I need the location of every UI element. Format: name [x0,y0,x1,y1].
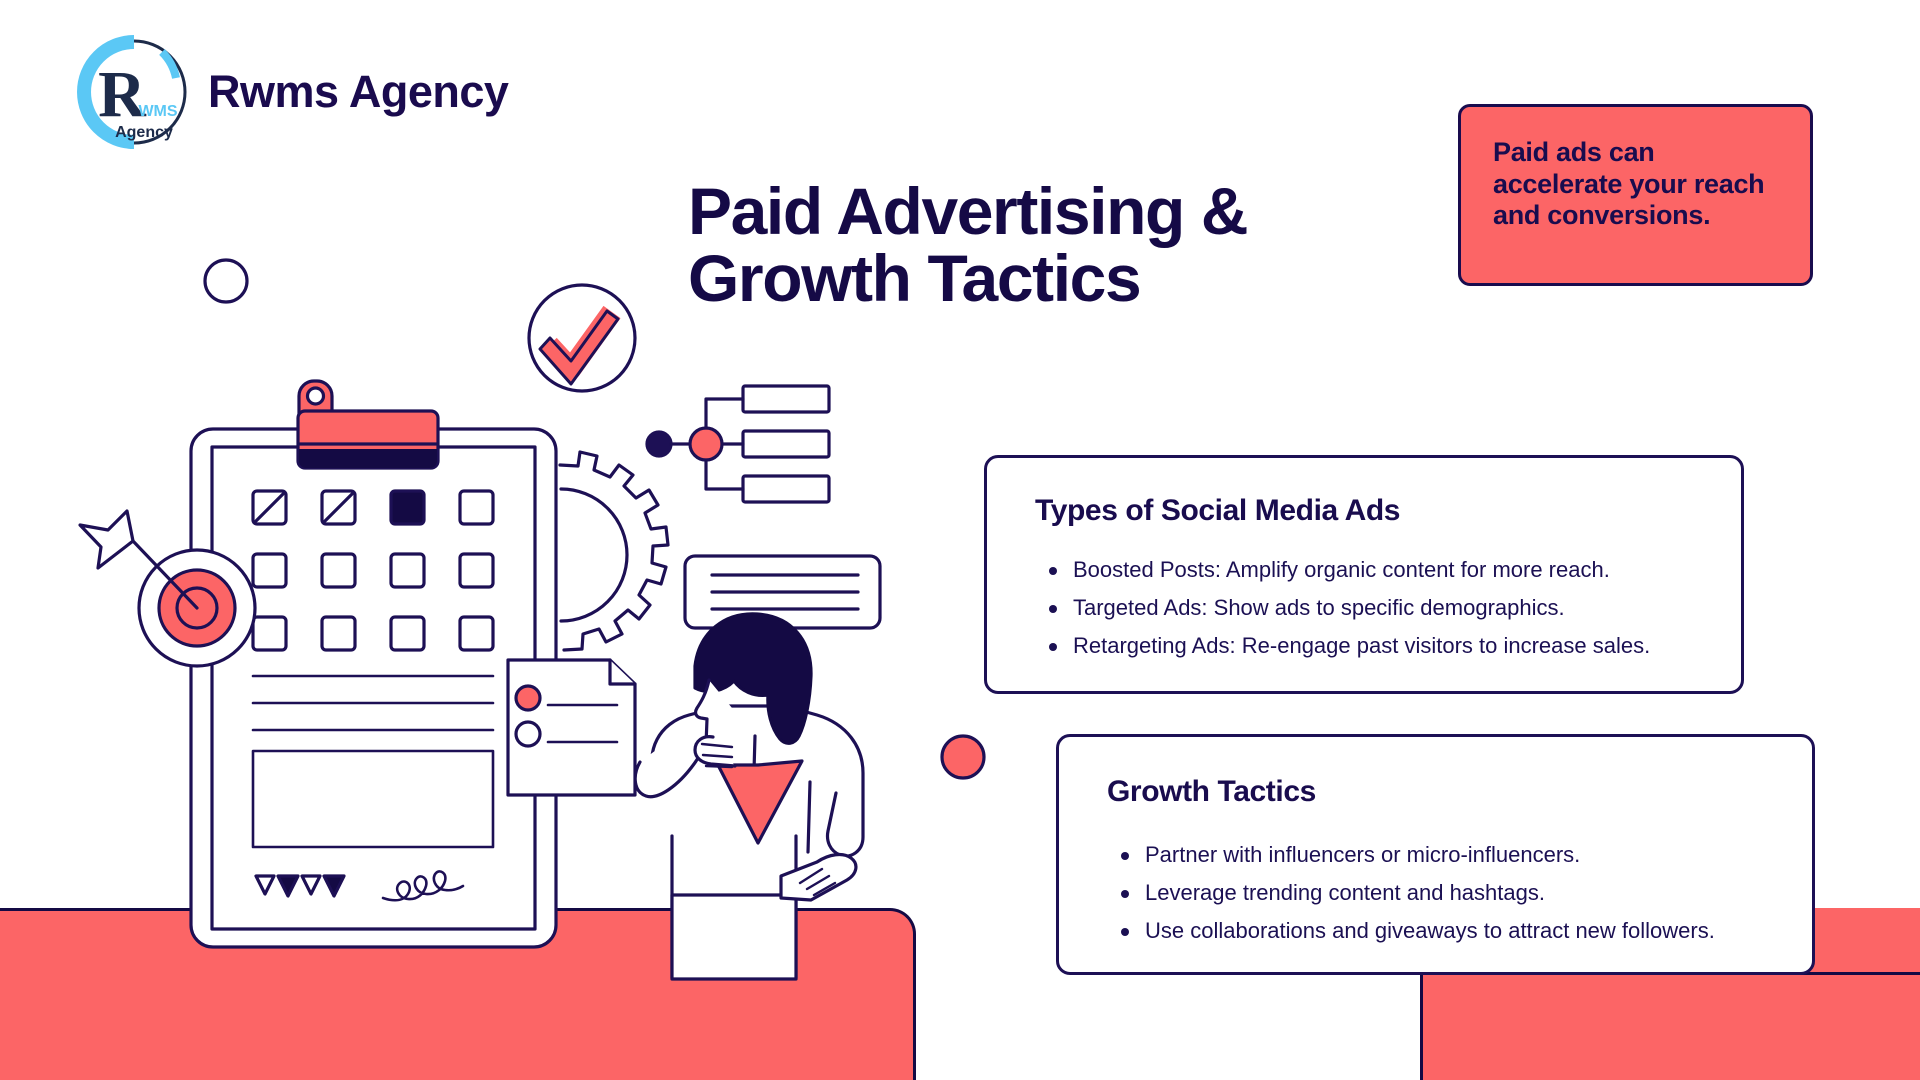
clipboard-illustration [191,381,556,947]
page-title: Paid Advertising & Growth Tactics [688,178,1468,313]
list-item: Retargeting Ads: Re-engage past visitors… [1035,632,1701,660]
page-title-line-1: Paid Advertising & [688,178,1468,245]
list-item: Partner with influencers or micro-influe… [1107,841,1772,869]
target-with-arrow-icon [80,511,255,666]
coral-block-right [1420,972,1920,1080]
coral-block-left [0,908,916,1080]
brand-logo: R WMS Agency Rwms Agency [78,36,508,148]
callout-box: Paid ads can accelerate your reach and c… [1458,104,1813,286]
logo-letter: R [98,58,147,131]
card-bullet-list: Boosted Posts: Amplify organic content f… [1035,556,1701,660]
logo-sub-bottom: Agency [115,124,173,141]
card-growth-tactics: Growth Tactics Partner with influencers … [1056,734,1815,975]
slide-canvas: R WMS Agency Rwms Agency Paid Advertisin… [0,0,1920,1080]
card-types-of-social-media-ads: Types of Social Media Ads Boosted Posts:… [984,455,1744,694]
logo-mark-icon: R WMS Agency [78,36,190,148]
list-item: Boosted Posts: Amplify organic content f… [1035,556,1701,584]
flowchart-nodes-icon [647,386,829,502]
decorative-coral-dot [942,736,984,778]
list-item: Leverage trending content and hashtags. [1107,879,1772,907]
decorative-circle-outline [205,260,247,302]
brand-name: Rwms Agency [208,66,508,118]
card-title: Growth Tactics [1107,775,1772,809]
document-checklist-icon [508,660,635,795]
list-item: Targeted Ads: Show ads to specific demog… [1035,594,1701,622]
logo-sub-top: WMS [138,103,177,120]
check-mark-circle-icon [529,285,635,391]
page-title-line-2: Growth Tactics [688,245,1468,312]
gear-icon [560,452,668,650]
speech-bubble-icon [685,556,880,668]
callout-text: Paid ads can accelerate your reach and c… [1493,137,1764,230]
card-bullet-list: Partner with influencers or micro-influe… [1107,841,1772,945]
list-item: Use collaborations and giveaways to attr… [1107,917,1772,945]
card-title: Types of Social Media Ads [1035,494,1701,528]
